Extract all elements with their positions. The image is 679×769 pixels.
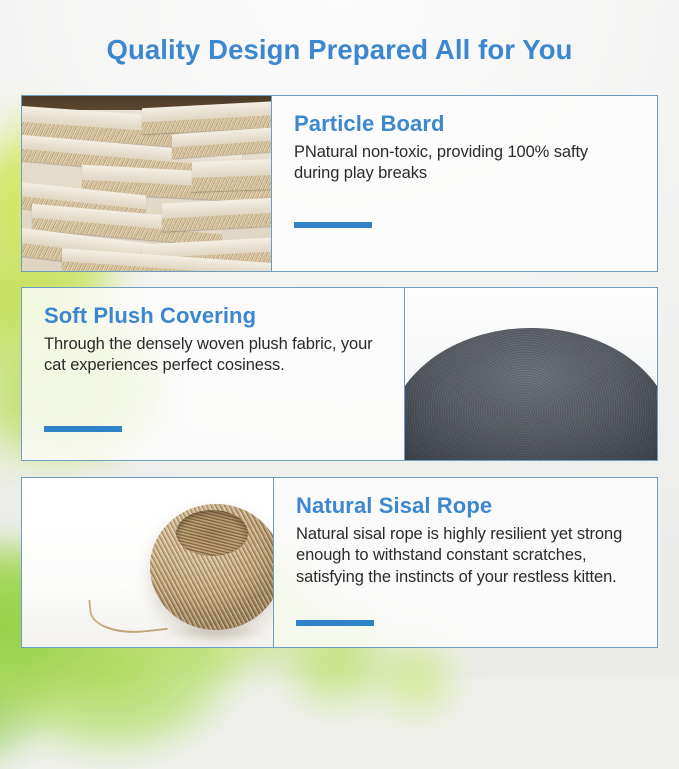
feature-card-body: Particle Board PNatural non-toxic, provi… [272, 96, 657, 271]
feature-card-particle-board: Particle Board PNatural non-toxic, provi… [21, 95, 658, 272]
feature-card-soft-plush-covering: Soft Plush Covering Through the densely … [21, 287, 658, 461]
grey-plush-disc-photo [404, 288, 657, 460]
feature-card-body: Soft Plush Covering Through the densely … [22, 288, 404, 460]
accent-bar [294, 222, 372, 228]
feature-description: PNatural non-toxic, providing 100% safty… [294, 142, 637, 185]
feature-description: Through the densely woven plush fabric, … [44, 334, 384, 377]
feature-card-natural-sisal-rope: Natural Sisal Rope Natural sisal rope is… [21, 477, 658, 648]
feature-heading: Natural Sisal Rope [296, 494, 637, 519]
particle-board-stack-photo [22, 96, 272, 271]
feature-heading: Soft Plush Covering [44, 304, 384, 329]
feature-heading: Particle Board [294, 112, 637, 137]
accent-bar [296, 620, 374, 626]
page-title: Quality Design Prepared All for You [0, 34, 679, 66]
sisal-rope-ball-photo [22, 478, 274, 647]
feature-description: Natural sisal rope is highly resilient y… [296, 524, 637, 588]
accent-bar [44, 426, 122, 432]
feature-card-body: Natural Sisal Rope Natural sisal rope is… [274, 478, 657, 647]
